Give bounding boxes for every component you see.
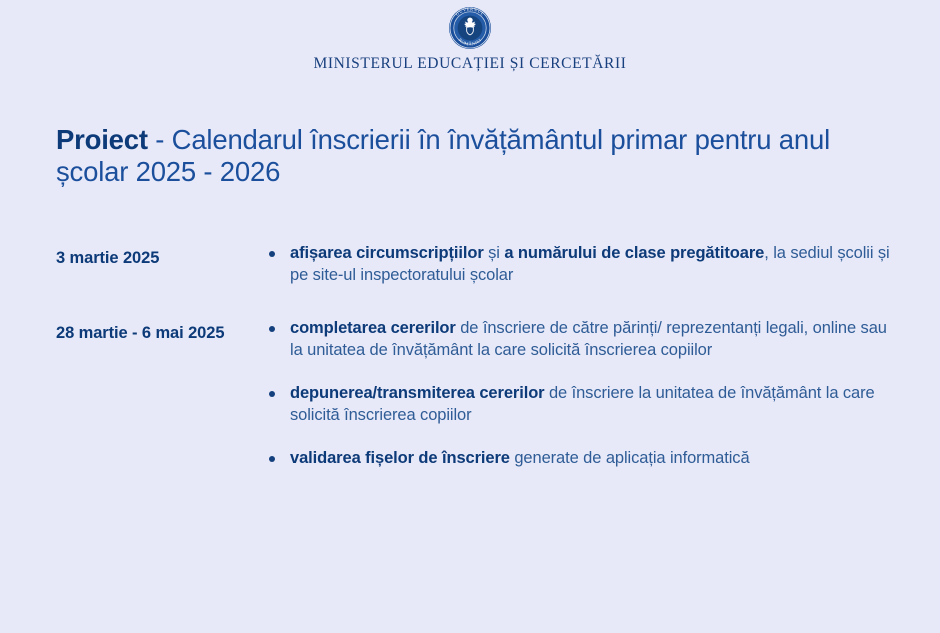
calendar-item-emphasis: depunerea/transmiterea cererilor <box>290 384 545 402</box>
calendar-item-text: afișarea circumscripțiilor și a numărulu… <box>290 244 890 284</box>
calendar-row: 28 martie - 6 mai 2025completarea cereri… <box>0 318 940 470</box>
page-title-lead: Proiect <box>56 124 148 155</box>
calendar-item-detail: generate de aplicația informatică <box>510 449 750 467</box>
document-header: GUVERNUL ROMÂNIEI Ministerul Educației ș… <box>0 0 940 73</box>
calendar-item: depunerea/transmiterea cererilor de însc… <box>262 383 890 426</box>
calendar-item: completarea cererilor de înscriere de că… <box>262 318 890 361</box>
calendar-item-emphasis: completarea cererilor <box>290 319 456 337</box>
calendar-item-list: completarea cererilor de înscriere de că… <box>262 318 940 470</box>
bullet-icon <box>269 326 275 332</box>
bullet-icon <box>269 251 275 257</box>
calendar-item-text: depunerea/transmiterea cererilor de însc… <box>290 384 875 424</box>
calendar-item: afișarea circumscripțiilor și a numărulu… <box>262 243 890 286</box>
calendar-item-emphasis: a numărului de clase pregătitoare <box>504 244 764 262</box>
calendar-item-emphasis: afișarea circumscripțiilor <box>290 244 484 262</box>
calendar-item-list: afișarea circumscripțiilor și a numărulu… <box>262 243 940 286</box>
calendar-item-detail: și <box>484 244 505 262</box>
calendar-date-label: 3 martie 2025 <box>0 243 262 269</box>
romania-government-seal-icon: GUVERNUL ROMÂNIEI <box>448 6 492 50</box>
page-title-rest: - Calendarul înscrierii în învățământul … <box>56 124 830 187</box>
bullet-icon <box>269 391 275 397</box>
calendar-item-text: validarea fișelor de înscriere generate … <box>290 449 750 467</box>
calendar-date-label: 28 martie - 6 mai 2025 <box>0 318 262 344</box>
calendar-item: validarea fișelor de înscriere generate … <box>262 448 890 470</box>
page-title: Proiect - Calendarul înscrierii în învăț… <box>56 124 876 188</box>
calendar-rows: 3 martie 2025afișarea circumscripțiilor … <box>0 243 940 470</box>
ministry-wordmark: Ministerul Educației și Cercetării <box>313 55 626 73</box>
calendar-row: 3 martie 2025afișarea circumscripțiilor … <box>0 243 940 286</box>
bullet-icon <box>269 456 275 462</box>
page-title-block: Proiect - Calendarul înscrierii în învăț… <box>56 106 876 207</box>
calendar-item-text: completarea cererilor de înscriere de că… <box>290 319 887 359</box>
calendar-item-emphasis: validarea fișelor de înscriere <box>290 449 510 467</box>
